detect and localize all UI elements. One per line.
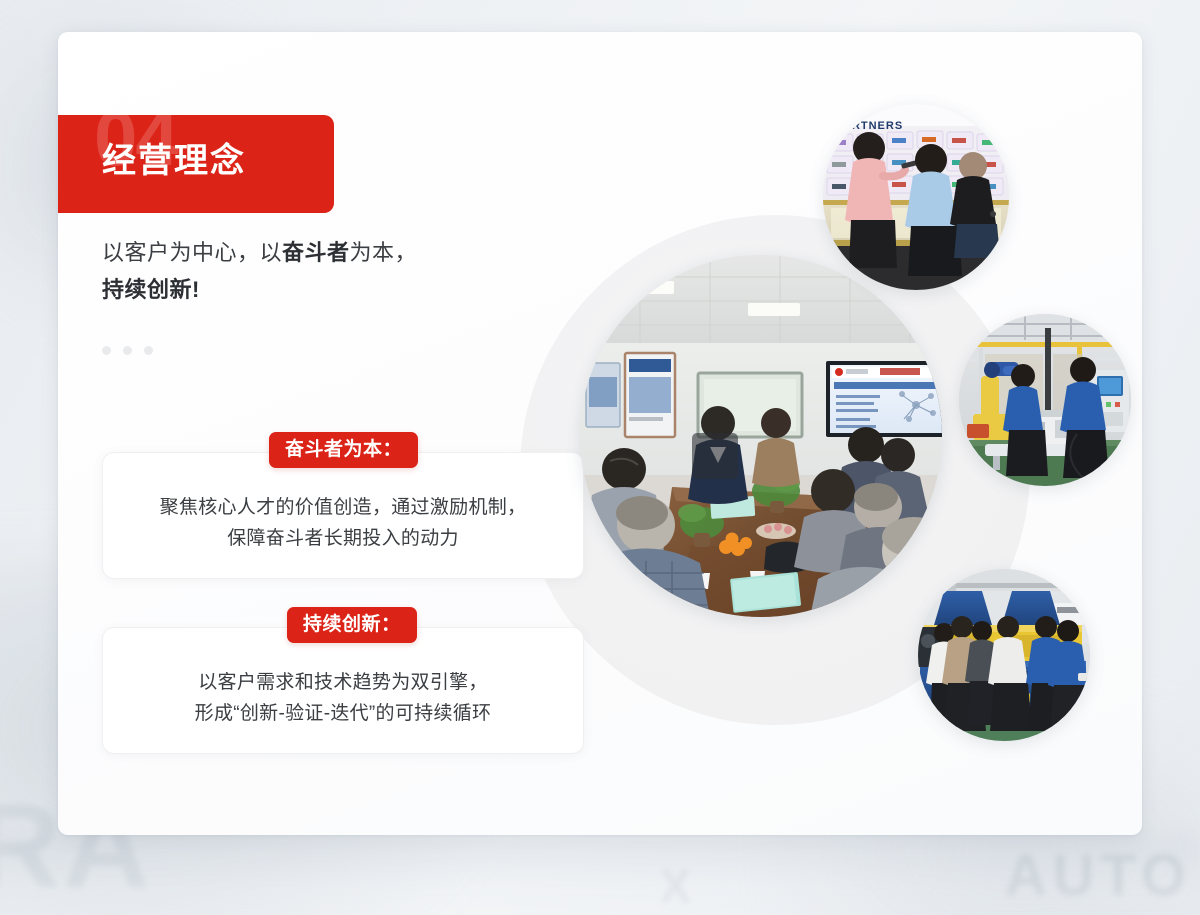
svg-text:ARTNERS: ARTNERS [843, 120, 903, 132]
subtitle-part-2: 为本， [350, 240, 418, 265]
value-card: 奋斗者为本： 聚焦核心人才的价值创造，通过激励机制， 保障奋斗者长期投入的动力 [102, 452, 584, 579]
section-title: 经营理念 [102, 143, 246, 180]
subtitle-emphasis-1: 奋斗者 [282, 240, 350, 265]
value-card-tag: 持续创新： [287, 607, 417, 643]
value-card-tag: 奋斗者为本： [269, 432, 418, 468]
section-subtitle: 以客户为中心，以奋斗者为本， 持续创新! [102, 235, 532, 308]
content-panel: 04 经营理念 以客户为中心，以奋斗者为本， 持续创新! 奋斗者为本： 聚焦核心… [58, 32, 1142, 835]
photo-factory-automation-line [959, 314, 1131, 486]
background-watermark-auto: AUTO [1005, 842, 1192, 909]
value-card-line: 聚焦核心人才的价值创造，通过激励机制， [123, 493, 563, 524]
photo-workshop-equipment-group [918, 569, 1090, 741]
dot-1 [102, 346, 111, 355]
subtitle-emphasis-2: 持续创新! [102, 277, 200, 302]
value-card-line: 以客户需求和技术趋势为双引擎， [123, 668, 563, 699]
value-card-line: 保障奋斗者长期投入的动力 [123, 524, 563, 555]
value-card-body: 聚焦核心人才的价值创造，通过激励机制， 保障奋斗者长期投入的动力 [123, 493, 563, 555]
value-card-line: 形成“创新-验证-迭代”的可持续循环 [123, 699, 563, 730]
photo-meeting-room-conference [580, 255, 942, 617]
section-badge: 04 经营理念 [58, 115, 334, 213]
subtitle-part-1: 以客户为中心，以 [102, 240, 282, 265]
dot-3 [144, 346, 153, 355]
value-card: 持续创新： 以客户需求和技术趋势为双引擎， 形成“创新-验证-迭代”的可持续循环 [102, 627, 584, 754]
dot-2 [123, 346, 132, 355]
background-watermark-middle: X [660, 859, 697, 913]
decorative-dots [102, 346, 153, 355]
photo-partner-wall-visit: ARTNERS [823, 104, 1009, 290]
value-card-body: 以客户需求和技术趋势为双引擎， 形成“创新-验证-迭代”的可持续循环 [123, 668, 563, 730]
